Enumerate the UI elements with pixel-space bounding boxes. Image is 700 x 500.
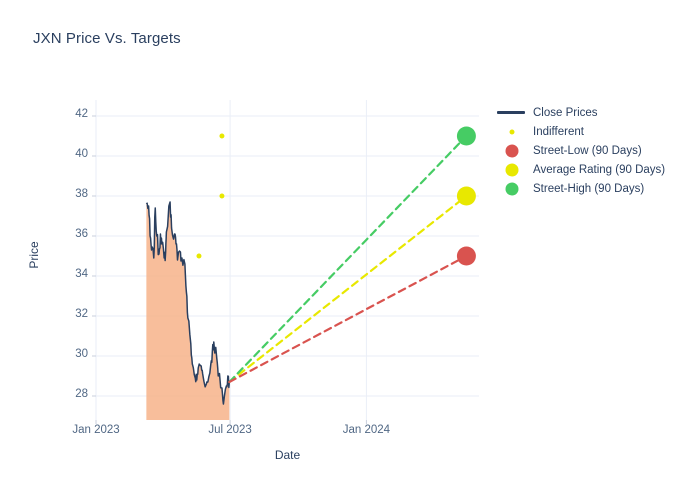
legend-dot-icon xyxy=(506,144,519,157)
legend-item[interactable]: Average Rating (90 Days) xyxy=(497,161,697,179)
legend-item-label: Close Prices xyxy=(533,107,598,119)
legend-item-label: Street-Low (90 Days) xyxy=(533,145,642,157)
chart-figure: JXN Price Vs. Targets Price Date 2830323… xyxy=(0,0,700,500)
target-dashed-line xyxy=(229,136,466,382)
legend-line-icon xyxy=(497,111,525,113)
legend-item[interactable]: Street-Low (90 Days) xyxy=(497,142,697,160)
legend-swatch-dot-icon xyxy=(497,180,527,197)
legend-swatch-line-icon xyxy=(497,104,527,121)
legend-item-label: Street-High (90 Days) xyxy=(533,183,644,195)
target-marker[interactable] xyxy=(457,127,476,146)
legend-swatch-dot-icon xyxy=(497,142,527,159)
indifferent-point[interactable] xyxy=(219,194,224,199)
legend-dot-icon xyxy=(506,182,519,195)
legend-item-label: Average Rating (90 Days) xyxy=(533,164,665,176)
chart-legend: Close PricesIndifferentStreet-Low (90 Da… xyxy=(497,104,697,199)
legend-swatch-dot-small-icon xyxy=(497,123,527,140)
plot-area xyxy=(0,0,700,500)
legend-item[interactable]: Close Prices xyxy=(497,104,697,122)
indifferent-point[interactable] xyxy=(196,254,201,259)
legend-dot-icon xyxy=(506,163,519,176)
legend-swatch-dot-icon xyxy=(497,161,527,178)
target-dashed-line xyxy=(229,256,466,382)
legend-item[interactable]: Indifferent xyxy=(497,123,697,141)
legend-item[interactable]: Street-High (90 Days) xyxy=(497,180,697,198)
legend-item-label: Indifferent xyxy=(533,126,584,138)
indifferent-point[interactable] xyxy=(219,134,224,139)
target-marker[interactable] xyxy=(457,187,476,206)
target-marker[interactable] xyxy=(457,247,476,266)
target-dashed-line xyxy=(229,196,466,382)
legend-dot-icon xyxy=(510,129,515,134)
